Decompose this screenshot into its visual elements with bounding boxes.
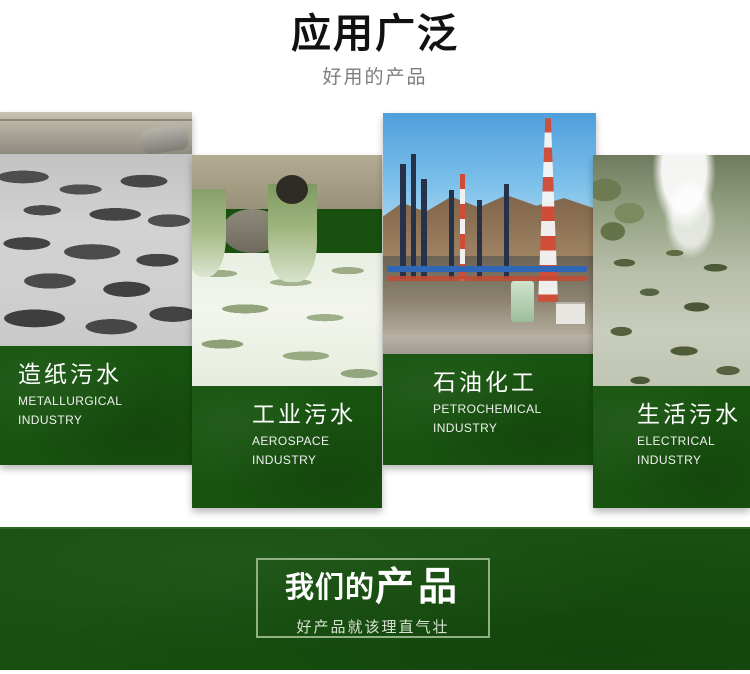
polluted-river-image	[593, 155, 750, 400]
card-label-en-line1: PETROCHEMICAL	[383, 398, 596, 417]
card-label-en-line1: ELECTRICAL	[593, 430, 750, 449]
refinery-image	[383, 113, 596, 368]
card-label-cn: 生活污水	[593, 400, 750, 430]
product-banner-title-big: 产品	[375, 565, 461, 610]
card-caption: 石油化工 PETROCHEMICAL INDUSTRY	[383, 354, 596, 465]
card-caption: 造纸污水 METALLURGICAL INDUSTRY	[0, 346, 192, 465]
card-label-en-line2: INDUSTRY	[593, 449, 750, 468]
card-caption: 生活污水 ELECTRICAL INDUSTRY	[593, 386, 750, 508]
card-label-cn: 工业污水	[192, 400, 382, 430]
industry-card-petrochemical[interactable]: 石油化工 PETROCHEMICAL INDUSTRY	[383, 113, 596, 465]
card-photo-domestic-sewage	[593, 155, 750, 400]
card-label-en-line1: AEROSPACE	[192, 430, 382, 449]
product-banner-title: 我们的产品	[258, 560, 488, 614]
aeration-basin-image	[0, 112, 192, 360]
card-photo-petrochemical	[383, 113, 596, 368]
product-banner-title-small: 我们的	[285, 570, 375, 604]
card-caption: 工业污水 AEROSPACE INDUSTRY	[192, 386, 382, 508]
product-banner-frame: 我们的产品 好产品就该理直气壮	[256, 558, 490, 638]
card-label-cn: 造纸污水	[0, 360, 192, 390]
card-label-cn: 石油化工	[383, 368, 596, 398]
discharge-outfall-image	[192, 155, 382, 400]
card-label-en-line2: INDUSTRY	[0, 409, 192, 428]
footer-strip	[0, 670, 750, 674]
industry-card-paper-wastewater[interactable]: 造纸污水 METALLURGICAL INDUSTRY	[0, 112, 192, 465]
card-label-en-line2: INDUSTRY	[192, 449, 382, 468]
card-photo-paper-wastewater	[0, 112, 192, 360]
product-banner-subtitle: 好产品就该理直气壮	[258, 614, 488, 637]
card-photo-industrial-wastewater	[192, 155, 382, 400]
card-label-en-line1: METALLURGICAL	[0, 390, 192, 409]
card-label-en-line2: INDUSTRY	[383, 417, 596, 436]
industry-card-domestic-sewage[interactable]: 生活污水 ELECTRICAL INDUSTRY	[593, 155, 750, 508]
industry-card-grid: 造纸污水 METALLURGICAL INDUSTRY 工业污水 AEROSPA…	[0, 0, 750, 527]
industry-card-industrial-wastewater[interactable]: 工业污水 AEROSPACE INDUSTRY	[192, 155, 382, 508]
